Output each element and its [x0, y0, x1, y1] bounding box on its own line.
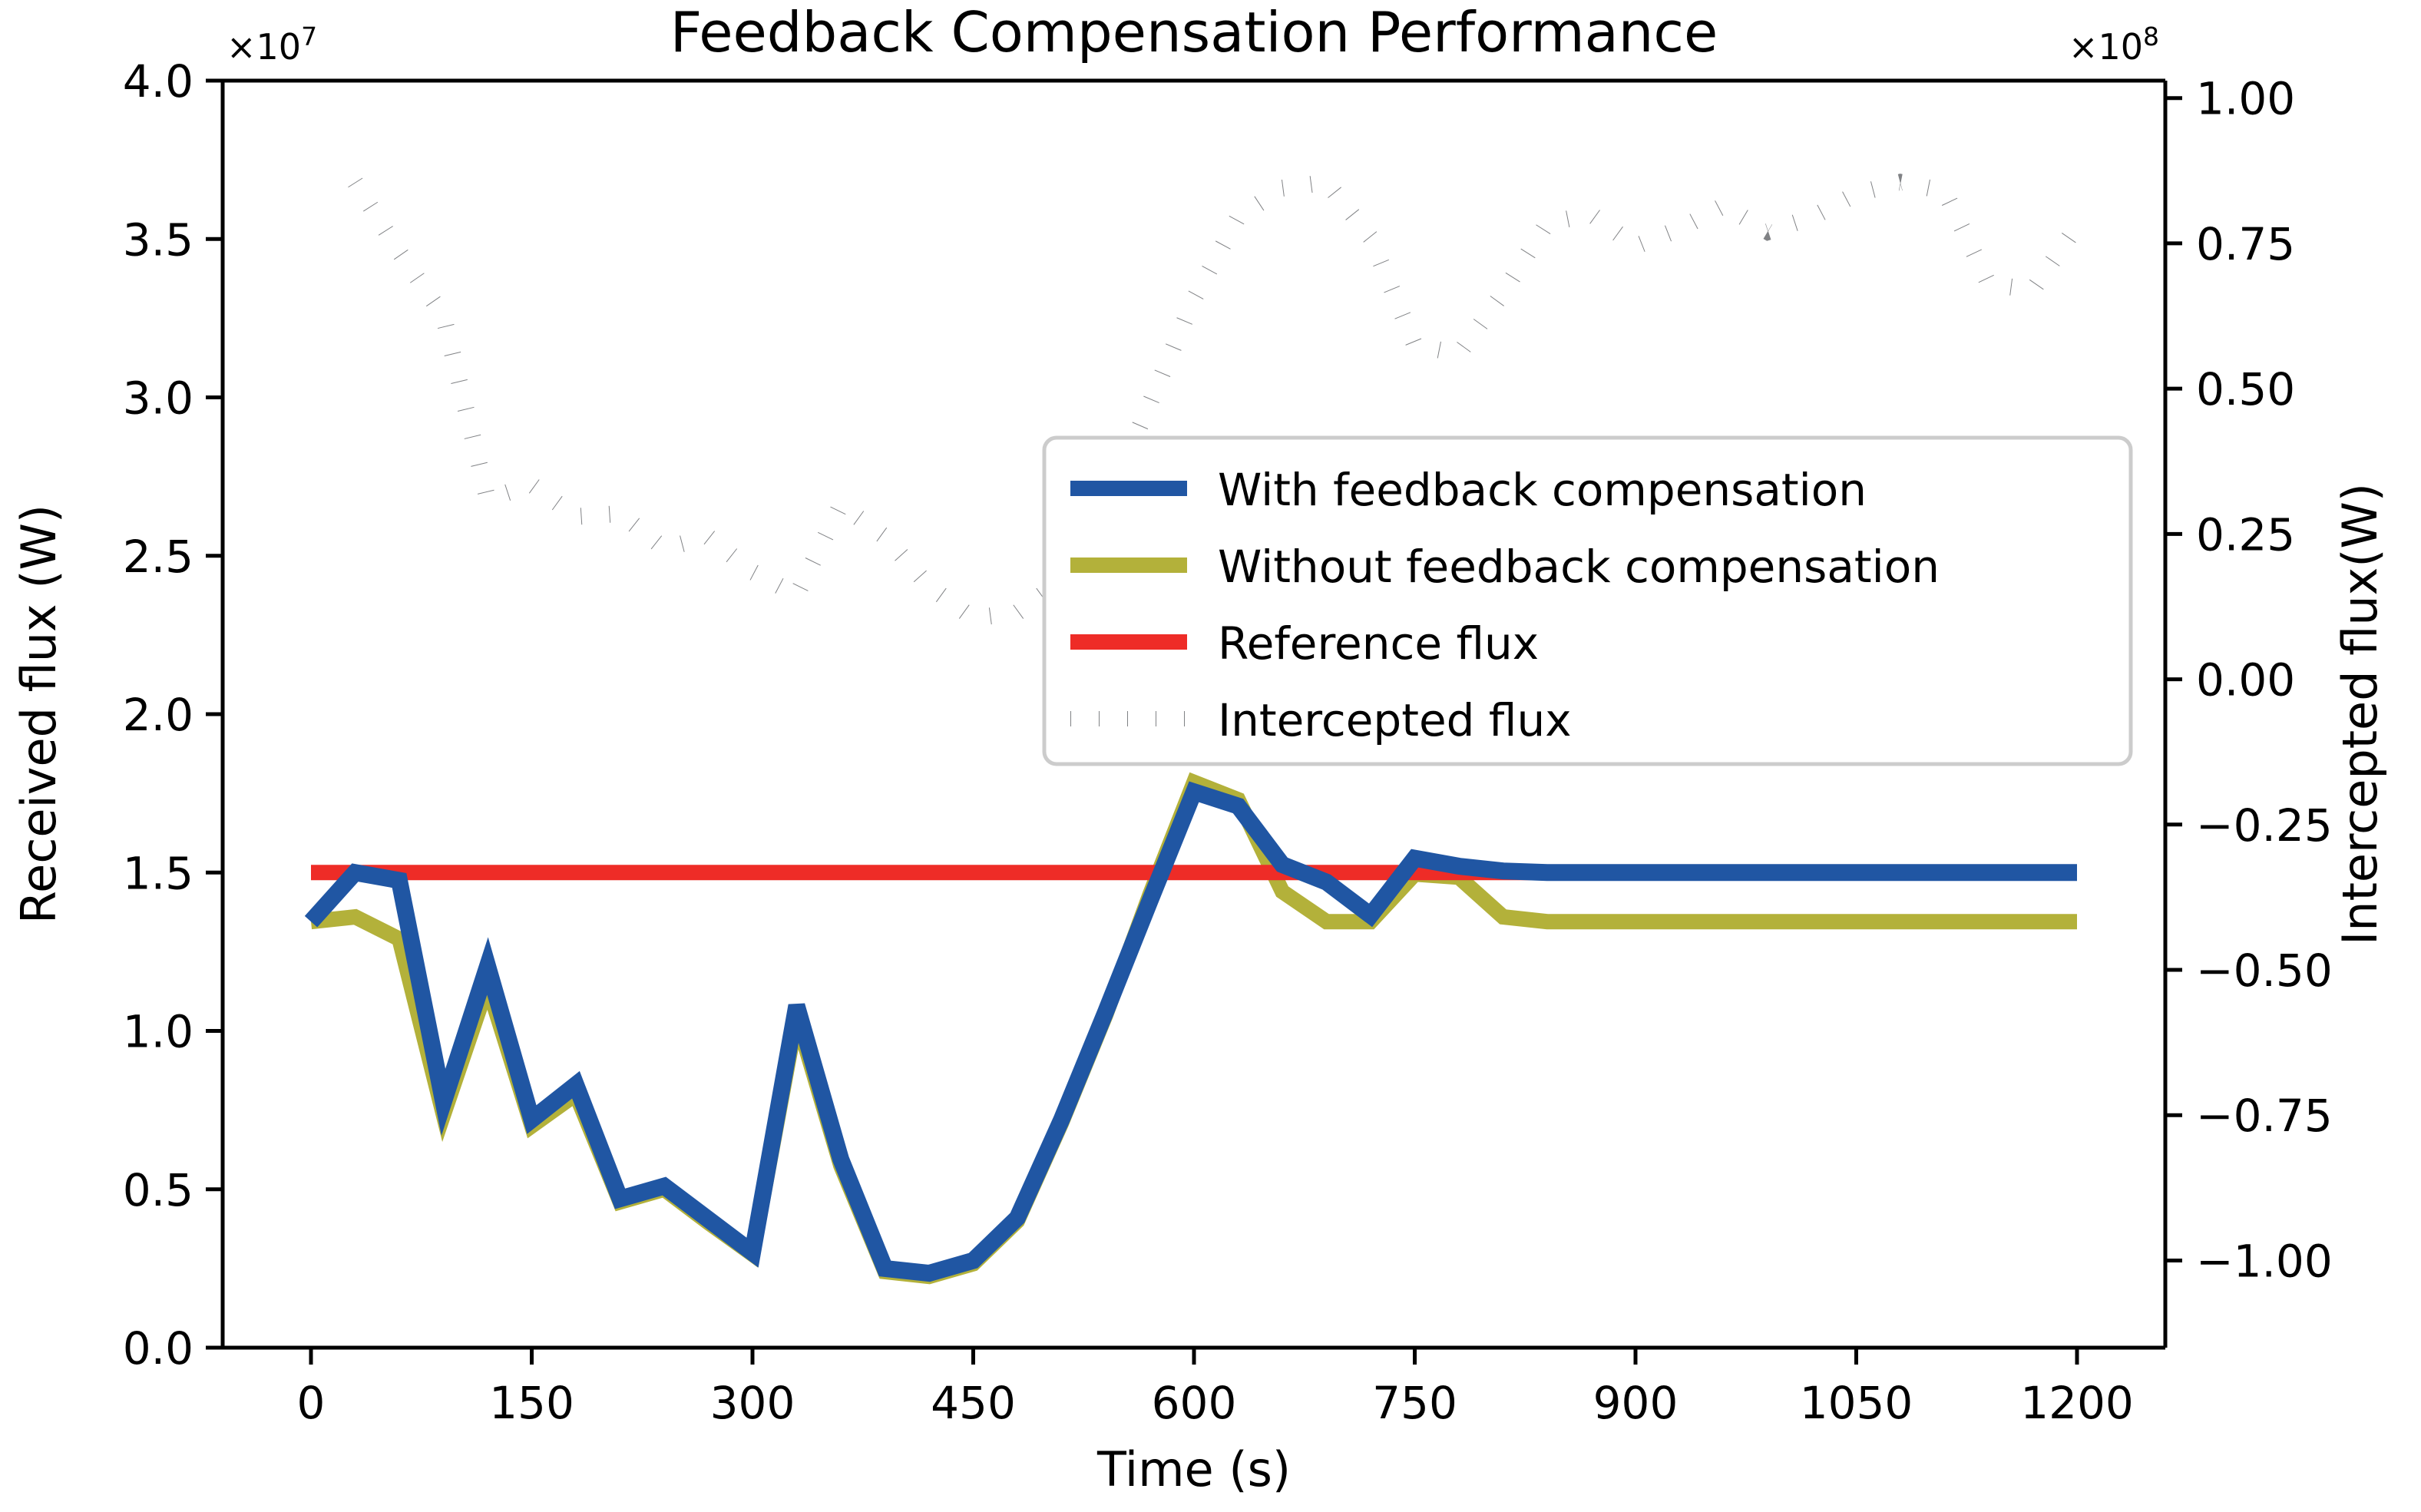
y-tick-label-left: 3.5: [123, 213, 193, 266]
x-tick-label: 150: [489, 1377, 574, 1429]
x-axis-title: Time (s): [1096, 1441, 1291, 1497]
x-tick-label: 450: [931, 1377, 1016, 1429]
y-tick-label-left: 0.5: [123, 1164, 193, 1216]
y-tick-label-right: −1.00: [2196, 1235, 2333, 1287]
x-tick-label: 900: [1593, 1377, 1678, 1429]
y-tick-label-left: 4.0: [123, 55, 193, 108]
y-tick-label-left: 1.0: [123, 1006, 193, 1058]
x-tick-label: 600: [1152, 1377, 1237, 1429]
legend-label-4: Intercepted flux: [1218, 694, 1572, 746]
y-tick-label-right: 0.50: [2196, 363, 2295, 415]
chart-title: Feedback Compensation Performance: [670, 0, 1718, 65]
x-tick-label: 1050: [1800, 1377, 1913, 1429]
y-tick-label-left: 2.0: [123, 689, 193, 741]
y-tick-label-right: −0.50: [2196, 945, 2333, 997]
y-tick-label-right: 1.00: [2196, 73, 2295, 125]
legend-label-3: Reference flux: [1218, 617, 1539, 670]
y-tick-label-left: 3.0: [123, 372, 193, 425]
y-offset-text-left: ×107: [227, 22, 317, 68]
chart-figure: 0.00.51.01.52.02.53.03.54.0−1.00−0.75−0.…: [0, 0, 2421, 1512]
legend-label-1: With feedback compensation: [1218, 464, 1867, 516]
y-tick-label-right: −0.25: [2196, 799, 2333, 852]
chart-canvas: 0.00.51.01.52.02.53.03.54.0−1.00−0.75−0.…: [0, 0, 2421, 1512]
y-tick-label-left: 2.5: [123, 531, 193, 583]
x-tick-label: 300: [710, 1377, 795, 1429]
y-offset-text-right: ×108: [2069, 22, 2159, 68]
y-tick-label-right: 0.25: [2196, 508, 2295, 561]
x-tick-label: 750: [1372, 1377, 1457, 1429]
y-axis-title-right: Intercepted flux(W): [2332, 483, 2388, 945]
y-tick-label-left: 0.0: [123, 1322, 193, 1375]
y-tick-label-right: 0.75: [2196, 218, 2295, 270]
legend-label-2: Without feedback compensation: [1218, 541, 1940, 593]
y-axis-title-left: Received flux (W): [11, 505, 67, 924]
x-tick-label: 0: [297, 1377, 326, 1429]
y-tick-label-right: −0.75: [2196, 1090, 2333, 1142]
y-tick-label-right: 0.00: [2196, 654, 2295, 706]
x-tick-label: 1200: [2020, 1377, 2134, 1429]
y-tick-label-left: 1.5: [123, 847, 193, 899]
